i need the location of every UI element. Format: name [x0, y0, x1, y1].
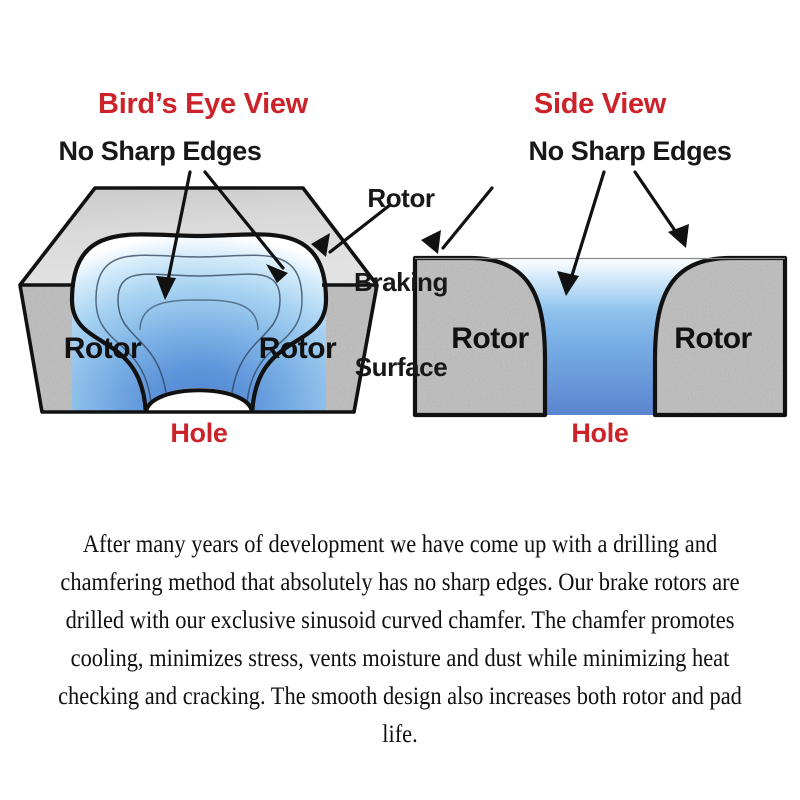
left-no-sharp-edges-label: No Sharp Edges — [30, 138, 290, 165]
left-rotor-label-left: Rotor — [45, 334, 160, 364]
right-no-sharp-edges-label: No Sharp Edges — [480, 138, 780, 165]
birds-eye-view-title: Bird’s Eye View — [78, 90, 328, 119]
left-rotor-label-right: Rotor — [240, 334, 355, 364]
rotor-braking-surface-line-1: Rotor — [336, 184, 466, 212]
right-rotor-label-left: Rotor — [430, 324, 550, 354]
right-rotor-label-right: Rotor — [653, 324, 773, 354]
right-hole-label: Hole — [540, 420, 660, 447]
side-view-title: Side View — [500, 90, 700, 119]
diagram-canvas: Bird’s Eye View No Sharp Edges Rotor Bra… — [0, 0, 800, 800]
rotor-braking-surface-line-3: Surface — [336, 353, 466, 381]
left-hole-label: Hole — [139, 420, 259, 447]
rotor-braking-surface-label: Rotor Braking Surface — [336, 128, 466, 437]
birds-eye-block — [20, 188, 377, 420]
description-paragraph: After many years of development we have … — [55, 525, 745, 753]
rotor-braking-surface-line-2: Braking — [336, 268, 466, 296]
